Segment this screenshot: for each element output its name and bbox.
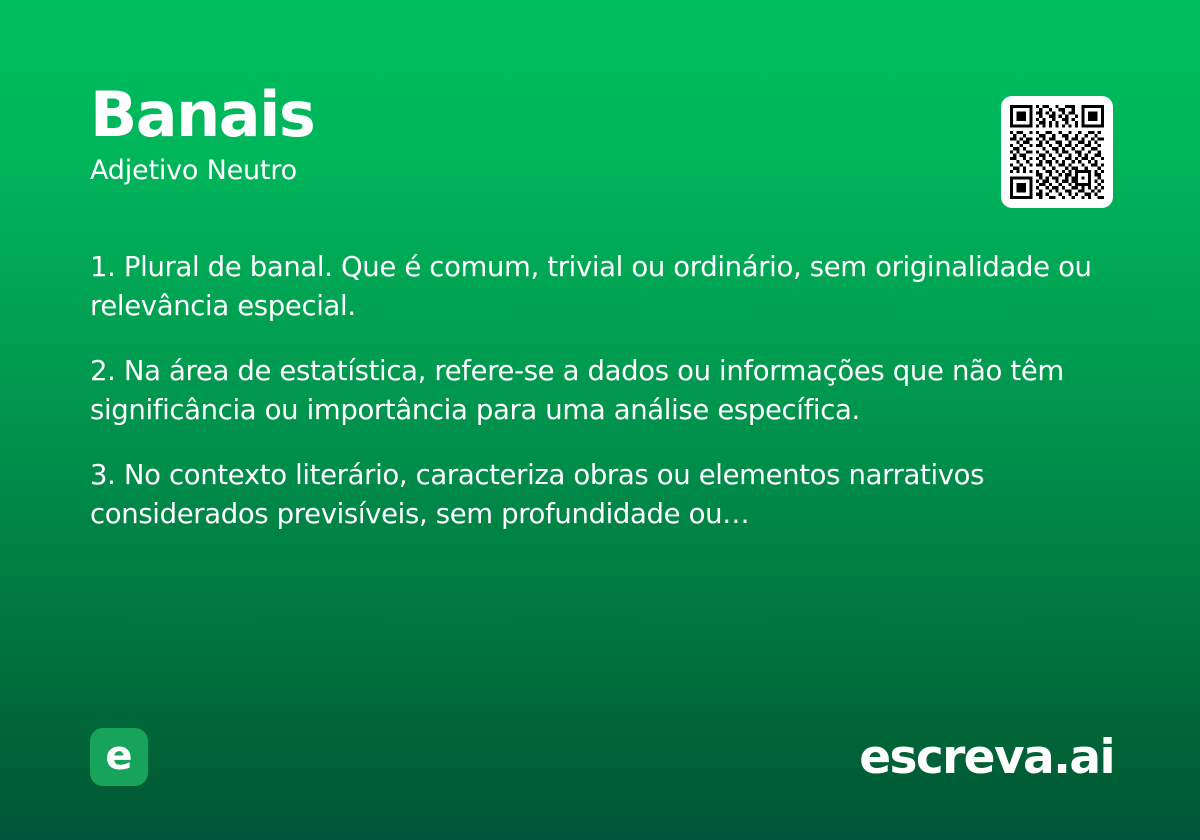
definition-item: 3. No contexto literário, caracteriza ob…: [90, 456, 1098, 534]
qr-code-card[interactable]: [1001, 96, 1113, 208]
card-footer: e escreva.ai: [90, 728, 1114, 788]
word-class-label: Adjetivo Neutro: [90, 154, 1110, 188]
page-title: Banais: [90, 82, 1110, 148]
definition-list: 1. Plural de banal. Que é comum, trivial…: [90, 248, 1098, 534]
dictionary-card: Banais Adjetivo Neutro: [0, 0, 1200, 840]
qr-code-icon: [1010, 105, 1104, 199]
definition-item: 2. Na área de estatística, refere-se a d…: [90, 352, 1098, 430]
brand-logo-badge: e: [90, 728, 148, 786]
brand-wordmark: escreva.ai: [859, 730, 1114, 786]
brand-logo-letter: e: [105, 736, 132, 776]
definition-item: 1. Plural de banal. Que é comum, trivial…: [90, 248, 1098, 326]
card-header: Banais Adjetivo Neutro: [90, 82, 1110, 188]
